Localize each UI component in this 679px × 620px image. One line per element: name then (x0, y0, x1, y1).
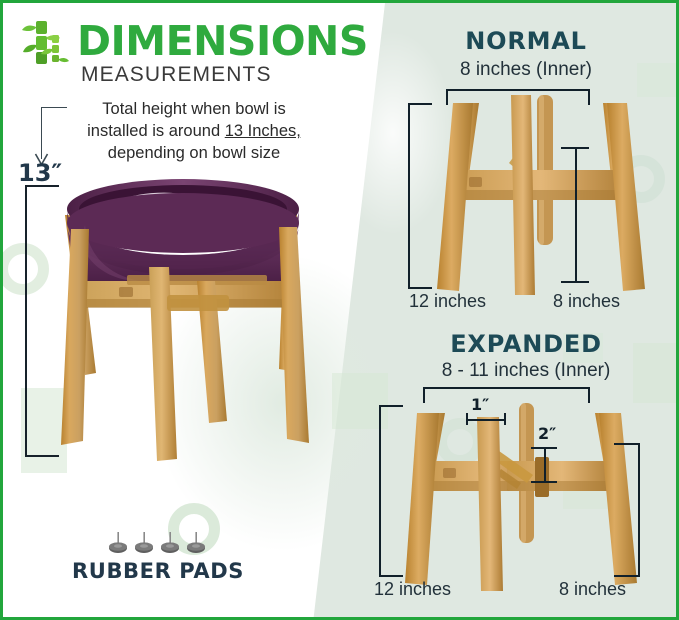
height-bracket-expanded-right (614, 443, 640, 577)
callout-leader-stem (41, 107, 43, 159)
dimension-label-normal-left: 12 inches (409, 291, 486, 312)
section-subtitle-expanded: 8 - 11 inches (Inner) (381, 360, 671, 382)
dimension-label-gap-small: 1″ (471, 395, 489, 414)
section-title-expanded: EXPANDED (381, 330, 671, 358)
callout-leader-line (41, 107, 67, 109)
callout-line-2-prefix: installed is around (87, 122, 225, 140)
stand-illustration-normal (411, 95, 671, 295)
measure-cap-bottom (561, 281, 589, 283)
callout-line-3: depending on bowl size (108, 144, 280, 162)
section-title-normal: NORMAL (381, 27, 671, 55)
measure-cap-right (504, 413, 506, 425)
rubber-pad-nail-icon (135, 532, 153, 553)
rubber-pad-nail-icon (187, 532, 205, 553)
rubber-pads-group (109, 531, 205, 557)
measure-stem (466, 419, 506, 421)
dimensions-infographic: DIMENSIONS MEASUREMENTS Total height whe… (0, 0, 679, 620)
dimension-label-expanded-left: 12 inches (374, 579, 451, 600)
height-measure-normal-right (561, 147, 589, 283)
measure-stem (544, 447, 546, 483)
page-title: DIMENSIONS (77, 21, 368, 62)
gap-large-measure (531, 447, 557, 483)
callout-line-1: Total height when bowl is (102, 100, 285, 118)
product-photo-bowl-on-stand (41, 163, 325, 463)
rubber-pad-nail-icon (161, 532, 179, 553)
page-subtitle: MEASUREMENTS (81, 63, 272, 87)
dimension-label-normal-right: 8 inches (553, 291, 620, 312)
section-subtitle-normal: 8 inches (Inner) (381, 59, 671, 81)
rubber-pads-label: RUBBER PADS (3, 559, 313, 583)
dimension-label-gap-large: 2″ (538, 424, 556, 443)
rubber-pad-nail-icon (109, 532, 127, 553)
callout-text: Total height when bowl is installed is a… (67, 99, 321, 165)
height-bracket-normal-left (408, 103, 432, 289)
measure-stem (575, 147, 577, 283)
gap-small-measure (466, 413, 506, 425)
measure-cap-bottom (531, 481, 557, 483)
dimension-label-expanded-right: 8 inches (559, 579, 626, 600)
callout-line-2-emphasis: 13 Inches, (225, 122, 301, 140)
bamboo-icon (17, 15, 71, 69)
height-bracket-expanded-left (379, 405, 403, 577)
